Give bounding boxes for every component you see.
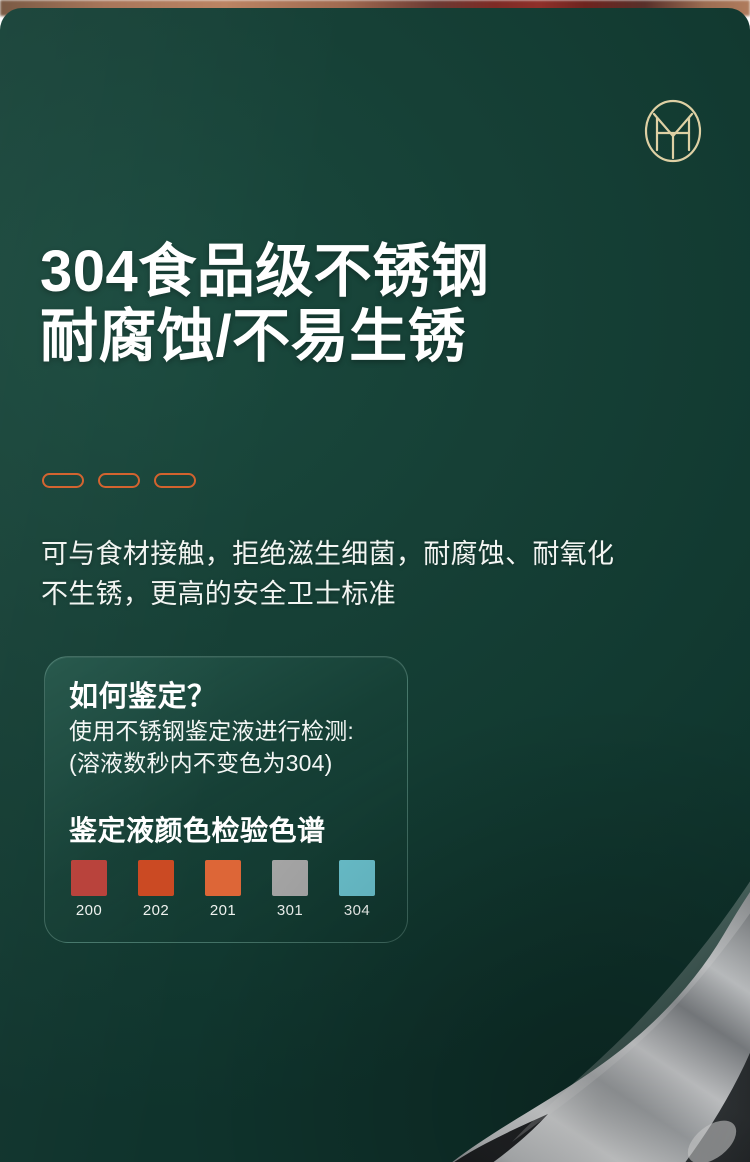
- green-panel: 304食品级不锈钢 耐腐蚀/不易生锈 可与食材接触，拒绝滋生细菌，耐腐蚀、耐氧化…: [0, 8, 750, 1162]
- identification-card: 如何鉴定？ 使用不锈钢鉴定液进行检测: (溶液数秒内不变色为304) 鉴定液颜色…: [44, 656, 408, 943]
- color-chart-title: 鉴定液颜色检验色谱: [69, 809, 326, 849]
- color-swatch-row: 200 202 201 301 304: [71, 860, 375, 919]
- card-description: 使用不锈钢鉴定液进行检测: (溶液数秒内不变色为304): [69, 716, 399, 779]
- dash-icon: [98, 473, 140, 488]
- swatch-label-202: 202: [143, 902, 169, 919]
- swatch-chip-202: [138, 860, 174, 896]
- product-banner-page: 304食品级不锈钢 耐腐蚀/不易生锈 可与食材接触，拒绝滋生细菌，耐腐蚀、耐氧化…: [0, 0, 750, 1162]
- swatch-label-301: 301: [277, 902, 303, 919]
- swatch-label-304: 304: [344, 902, 370, 919]
- headline-line-1: 304食品级不锈钢: [40, 240, 700, 305]
- color-swatch-item: 200: [71, 860, 107, 919]
- swatch-chip-201: [205, 860, 241, 896]
- headline-line-2: 耐腐蚀/不易生锈: [40, 305, 700, 370]
- color-swatch-item: 202: [138, 860, 174, 919]
- card-title: 如何鉴定？: [69, 673, 217, 715]
- color-swatch-item: 201: [205, 860, 241, 919]
- dash-divider: [42, 473, 196, 488]
- color-swatch-item: 301: [272, 860, 308, 919]
- swatch-chip-301: [272, 860, 308, 896]
- swatch-label-201: 201: [210, 902, 236, 919]
- monogram-logo: [642, 98, 704, 164]
- dash-icon: [42, 473, 84, 488]
- swatch-chip-200: [71, 860, 107, 896]
- subtitle-line-1: 可与食材接触，拒绝滋生细菌，耐腐蚀、耐氧化: [41, 535, 681, 575]
- subtitle-line-2: 不生锈，更高的安全卫士标准: [41, 575, 681, 615]
- dash-icon: [154, 473, 196, 488]
- headline: 304食品级不锈钢 耐腐蚀/不易生锈: [40, 240, 700, 370]
- swatch-label-200: 200: [76, 902, 102, 919]
- card-description-line-1: 使用不锈钢鉴定液进行检测:: [69, 716, 399, 748]
- subtitle: 可与食材接触，拒绝滋生细菌，耐腐蚀、耐氧化 不生锈，更高的安全卫士标准: [41, 535, 681, 615]
- card-description-line-2: (溶液数秒内不变色为304): [69, 748, 399, 780]
- swatch-chip-304: [339, 860, 375, 896]
- color-swatch-item: 304: [339, 860, 375, 919]
